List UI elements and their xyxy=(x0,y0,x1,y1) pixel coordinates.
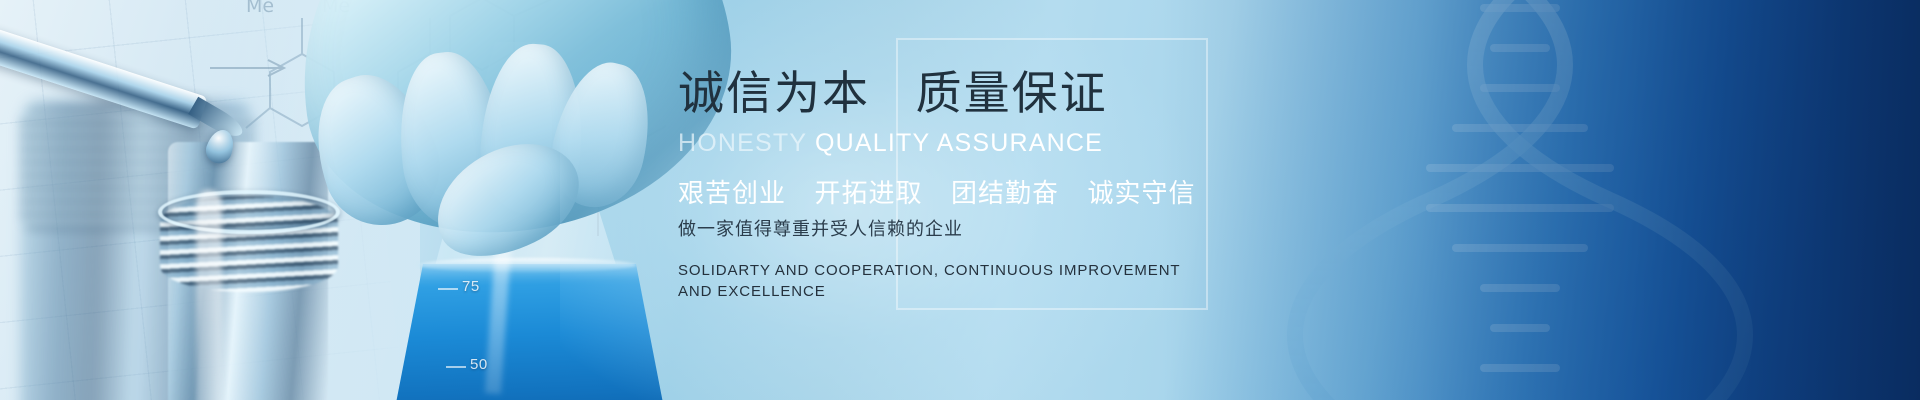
english-mission-line-1: SOLIDARTY AND COOPERATION, CONTINUOUS IM… xyxy=(678,260,1378,281)
english-mission-statement: SOLIDARTY AND COOPERATION, CONTINUOUS IM… xyxy=(678,260,1378,302)
subtitle-honesty: HONESTY xyxy=(678,129,807,157)
english-subtitle: HONESTY QUALITY ASSURANCE xyxy=(678,128,1378,158)
banner-copy-block: 诚信为本 质量保证 HONESTY QUALITY ASSURANCE 艰苦创业… xyxy=(678,64,1378,302)
glass-jar-rim xyxy=(158,190,340,234)
headline-part-2: 质量保证 xyxy=(916,67,1108,119)
company-tagline: 做一家值得尊重并受人信赖的企业 xyxy=(678,216,1378,242)
company-slogan: 艰苦创业 开拓进取 团结勤奋 诚实守信 xyxy=(678,176,1378,210)
glass-jar-highlight xyxy=(196,190,222,400)
flask-graduation-line-50 xyxy=(446,366,466,368)
svg-text:Me: Me xyxy=(246,0,274,17)
page-title: 诚信为本 质量保证 xyxy=(678,64,1378,122)
company-culture-banner: Me Me OH O 100 75 50 xyxy=(0,0,1920,400)
headline-part-1: 诚信为本 xyxy=(678,67,870,119)
slogan-part-2: 开拓进取 xyxy=(814,178,922,208)
english-mission-line-2: AND EXCELLENCE xyxy=(678,281,1378,302)
slogan-part-3: 团结勤奋 xyxy=(951,178,1059,208)
slogan-part-1: 艰苦创业 xyxy=(678,178,786,208)
slogan-part-4: 诚实守信 xyxy=(1087,178,1195,208)
subtitle-quality-assurance: QUALITY ASSURANCE xyxy=(815,129,1103,157)
flask-graduation-50: 50 xyxy=(470,356,488,373)
flask-graduation-line-75 xyxy=(438,288,458,290)
flask-graduation-75: 75 xyxy=(462,278,480,295)
